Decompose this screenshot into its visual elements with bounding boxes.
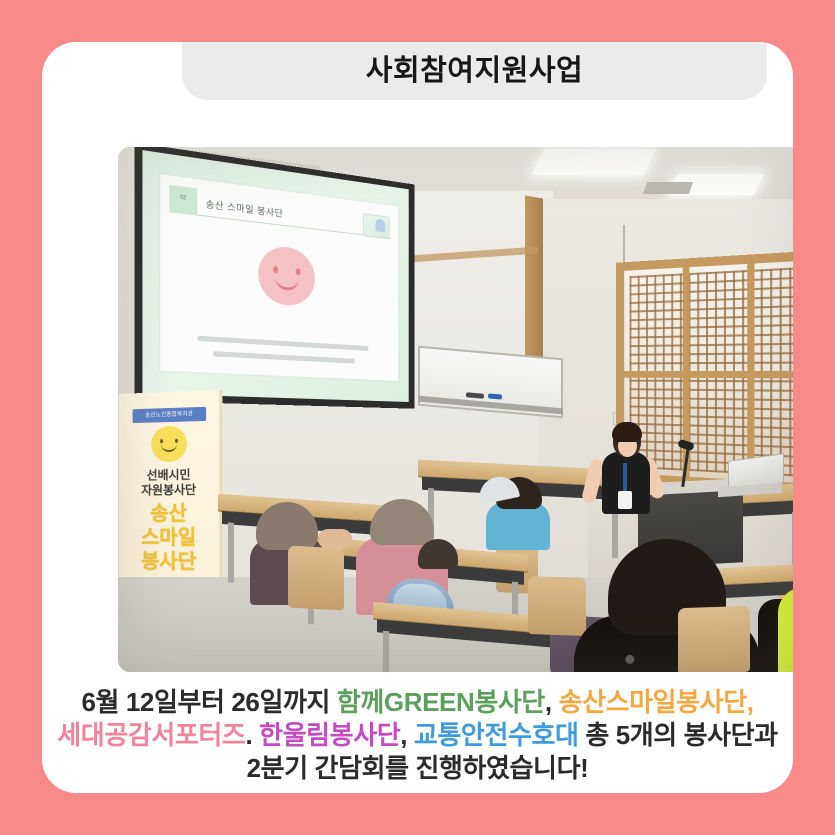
poster-root: 사회참여지원사업 bbox=[0, 0, 835, 835]
caption-segment: 함께GREEN봉사단 bbox=[337, 687, 545, 717]
chair bbox=[288, 546, 344, 611]
page-title: 사회참여지원사업 bbox=[366, 57, 583, 86]
projector-screen: 02 송산 스마일 봉사단 bbox=[135, 147, 415, 409]
caption-segment: 교통안전수호대 bbox=[414, 720, 579, 750]
wall-beam bbox=[525, 195, 543, 378]
title-bar: 사회참여지원사업 bbox=[182, 42, 767, 100]
caption-segment: , bbox=[545, 687, 559, 717]
attendee-body bbox=[486, 502, 550, 550]
caption-line-1: 6월 12일부터 26일까지 함께GREEN봉사단, 송산스마일봉사단, bbox=[48, 686, 787, 719]
standee-title: 송산 스마일 봉사단 bbox=[119, 502, 219, 575]
slide-body-line-2 bbox=[213, 351, 356, 364]
caption-line-2: 세대공감서포터즈. 한울림봉사단, 교통안전수호대 총 5개의 봉사단과 bbox=[48, 719, 787, 752]
desk-leg bbox=[792, 512, 793, 572]
safety-vest bbox=[778, 587, 793, 672]
chair-back bbox=[288, 546, 344, 611]
caption-segment: 총 5개의 봉사단과 bbox=[579, 720, 778, 750]
event-photo: 02 송산 스마일 봉사단 bbox=[118, 147, 793, 672]
presenter-hair bbox=[612, 422, 642, 442]
caption-segment: 한울림봉사단 bbox=[259, 720, 400, 750]
desk-leg bbox=[383, 631, 389, 672]
chair bbox=[528, 576, 586, 636]
caption-segment: 세대공감서포터즈 bbox=[57, 720, 245, 750]
caption-segment: . bbox=[245, 720, 259, 750]
standee-title-line1: 송산 bbox=[119, 502, 219, 527]
ceiling-vent bbox=[643, 182, 693, 194]
caption-segment: 송산스마일봉사단, bbox=[559, 687, 754, 717]
chair-back bbox=[678, 606, 750, 672]
caption-segment: 2분기 간담회를 진행하였습니다! bbox=[247, 753, 589, 783]
attendee-hands bbox=[318, 529, 352, 549]
smiley-face-graphic bbox=[258, 244, 315, 307]
smiley-eye-left bbox=[273, 266, 278, 274]
caption-block: 6월 12일부터 26일까지 함께GREEN봉사단, 송산스마일봉사단, 세대공… bbox=[42, 686, 793, 785]
standee-title-line2: 스마일 bbox=[119, 526, 219, 550]
screen-surface: 02 송산 스마일 봉사단 bbox=[142, 150, 408, 402]
presenter-lanyard bbox=[623, 463, 627, 493]
standee-smiley-icon bbox=[151, 426, 187, 463]
standee-heading-line1: 선배시민 bbox=[119, 467, 219, 484]
standee-heading: 선배시민 자원봉사단 bbox=[119, 467, 219, 498]
standee-eye-left bbox=[160, 439, 163, 443]
standee-title-line3: 봉사단 bbox=[119, 550, 219, 575]
caption-segment: 6월 12일부터 26일까지 bbox=[81, 687, 336, 717]
white-card: 사회참여지원사업 bbox=[42, 42, 793, 793]
slide-illustration bbox=[363, 213, 390, 239]
standee-eye-right bbox=[174, 439, 177, 443]
smiley-mouth bbox=[275, 276, 298, 291]
standee-mouth bbox=[161, 444, 177, 452]
caption-line-3: 2분기 간담회를 진행하였습니다! bbox=[48, 752, 787, 785]
caption-segment: , bbox=[400, 720, 414, 750]
window-mullion bbox=[624, 371, 793, 378]
standee-ribbon: 송산노인종합복지관 bbox=[133, 407, 207, 423]
standee-heading-line2: 자원봉사단 bbox=[119, 482, 219, 498]
presenter-name-badge bbox=[618, 491, 632, 509]
smiley-eye-right bbox=[295, 268, 300, 275]
chair bbox=[678, 606, 750, 672]
ceiling-light bbox=[585, 155, 642, 169]
slide-body-line-1 bbox=[197, 336, 368, 351]
presentation-slide: 02 송산 스마일 봉사단 bbox=[160, 174, 398, 381]
desk-leg bbox=[228, 522, 234, 582]
chair-back bbox=[528, 576, 586, 636]
